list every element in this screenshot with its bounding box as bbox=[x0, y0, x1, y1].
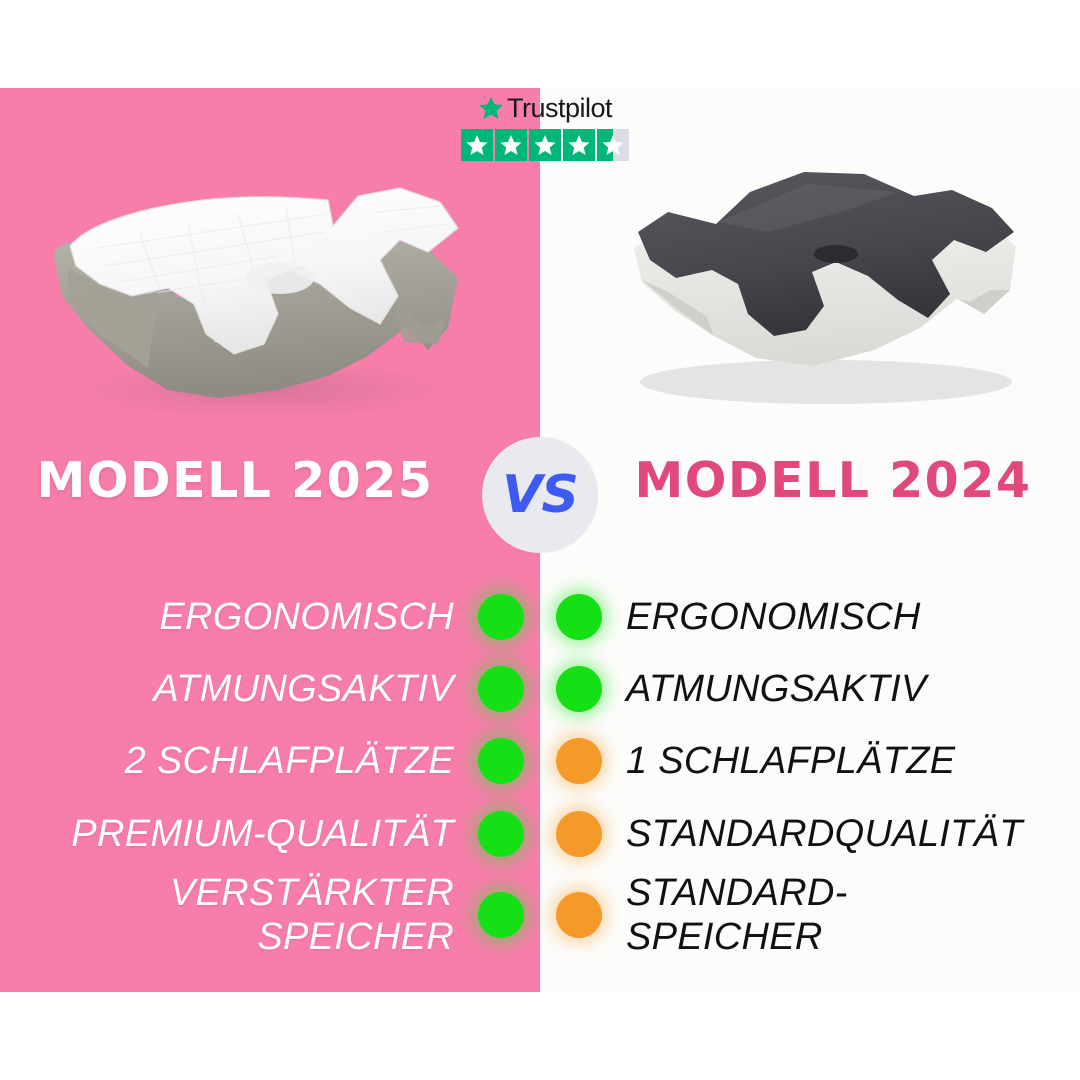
left-feature-label-3: 2 SCHLAFPLÄTZE bbox=[0, 739, 462, 783]
right-feature-label-4: STANDARDQUALITÄT bbox=[618, 812, 1080, 856]
rating-star-4 bbox=[563, 129, 595, 161]
rating-star-3 bbox=[529, 129, 561, 161]
left-status-dot-1 bbox=[478, 594, 524, 640]
right-model-title: MODELL 2024 bbox=[608, 452, 1058, 509]
left-status-dot-4 bbox=[478, 811, 524, 857]
rating-star-2 bbox=[495, 129, 527, 161]
gray-butterfly-pillow-icon bbox=[598, 150, 1048, 420]
status-dots-2 bbox=[462, 666, 618, 712]
white-butterfly-pillow-icon bbox=[28, 128, 478, 428]
trustpilot-badge: Trustpilot bbox=[455, 90, 635, 168]
right-status-dot-1 bbox=[556, 594, 602, 640]
left-status-dot-2 bbox=[478, 666, 524, 712]
left-product-image bbox=[28, 128, 478, 428]
status-dots-3 bbox=[462, 738, 618, 784]
right-status-dot-4 bbox=[556, 811, 602, 857]
right-status-dot-2 bbox=[556, 666, 602, 712]
trustpilot-name: Trustpilot bbox=[507, 93, 612, 123]
trustpilot-star-icon bbox=[478, 95, 504, 121]
comparison-graphic: Trustpilot bbox=[0, 0, 1080, 1080]
feature-comparison-list: ERGONOMISCH ERGONOMISCH ATMUNGSAKTIV ATM… bbox=[0, 578, 1080, 978]
feature-row-1: ERGONOMISCH ERGONOMISCH bbox=[0, 592, 1080, 642]
status-dots-4 bbox=[462, 811, 618, 857]
vs-badge: VS bbox=[482, 437, 598, 553]
right-status-dot-5 bbox=[556, 892, 602, 938]
status-dots-5 bbox=[462, 892, 618, 938]
left-feature-label-2: ATMUNGSAKTIV bbox=[0, 667, 462, 711]
trustpilot-wordmark: Trustpilot bbox=[455, 90, 635, 126]
feature-row-5: VERSTÄRKTER SPEICHER STANDARD- SPEICHER bbox=[0, 860, 1080, 970]
left-status-dot-3 bbox=[478, 738, 524, 784]
left-feature-label-4: PREMIUM-QUALITÄT bbox=[0, 812, 462, 856]
left-status-dot-5 bbox=[478, 892, 524, 938]
left-feature-label-5: VERSTÄRKTER SPEICHER bbox=[0, 871, 462, 959]
right-feature-label-1: ERGONOMISCH bbox=[618, 595, 1080, 639]
status-dots-1 bbox=[462, 594, 618, 640]
feature-row-3: 2 SCHLAFPLÄTZE 1 SCHLAFPLÄTZE bbox=[0, 736, 1080, 786]
trustpilot-star-rating bbox=[455, 129, 635, 161]
rating-star-5-half bbox=[597, 129, 629, 161]
left-feature-label-1: ERGONOMISCH bbox=[0, 595, 462, 639]
right-feature-label-3: 1 SCHLAFPLÄTZE bbox=[618, 739, 1080, 783]
right-status-dot-3 bbox=[556, 738, 602, 784]
right-product-image bbox=[598, 150, 1048, 420]
right-feature-label-5: STANDARD- SPEICHER bbox=[618, 871, 1080, 959]
rating-star-1 bbox=[461, 129, 493, 161]
feature-row-2: ATMUNGSAKTIV ATMUNGSAKTIV bbox=[0, 664, 1080, 714]
feature-row-4: PREMIUM-QUALITÄT STANDARDQUALITÄT bbox=[0, 809, 1080, 859]
left-model-title: MODELL 2025 bbox=[0, 452, 470, 509]
vs-label: VS bbox=[502, 465, 578, 525]
right-feature-label-2: ATMUNGSAKTIV bbox=[618, 667, 1080, 711]
